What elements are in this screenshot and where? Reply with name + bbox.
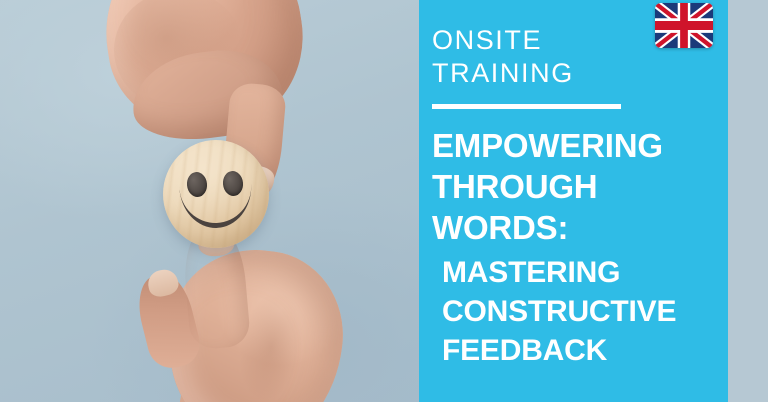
kicker-text: Onsite Training bbox=[432, 24, 574, 90]
bottom-hand bbox=[150, 232, 380, 402]
banner-canvas: Onsite Training Empowering Through Words… bbox=[0, 0, 768, 402]
uk-flag-icon bbox=[655, 3, 713, 48]
divider-rule bbox=[432, 104, 621, 109]
wooden-smiley-disc bbox=[163, 140, 269, 248]
hero-photo bbox=[0, 0, 419, 402]
page-title: Empowering Through Words: bbox=[432, 125, 663, 248]
page-subtitle: Mastering Constructive Feedback bbox=[442, 253, 676, 370]
text-panel: Onsite Training Empowering Through Words… bbox=[419, 0, 728, 402]
smiley-mouth bbox=[179, 183, 252, 229]
